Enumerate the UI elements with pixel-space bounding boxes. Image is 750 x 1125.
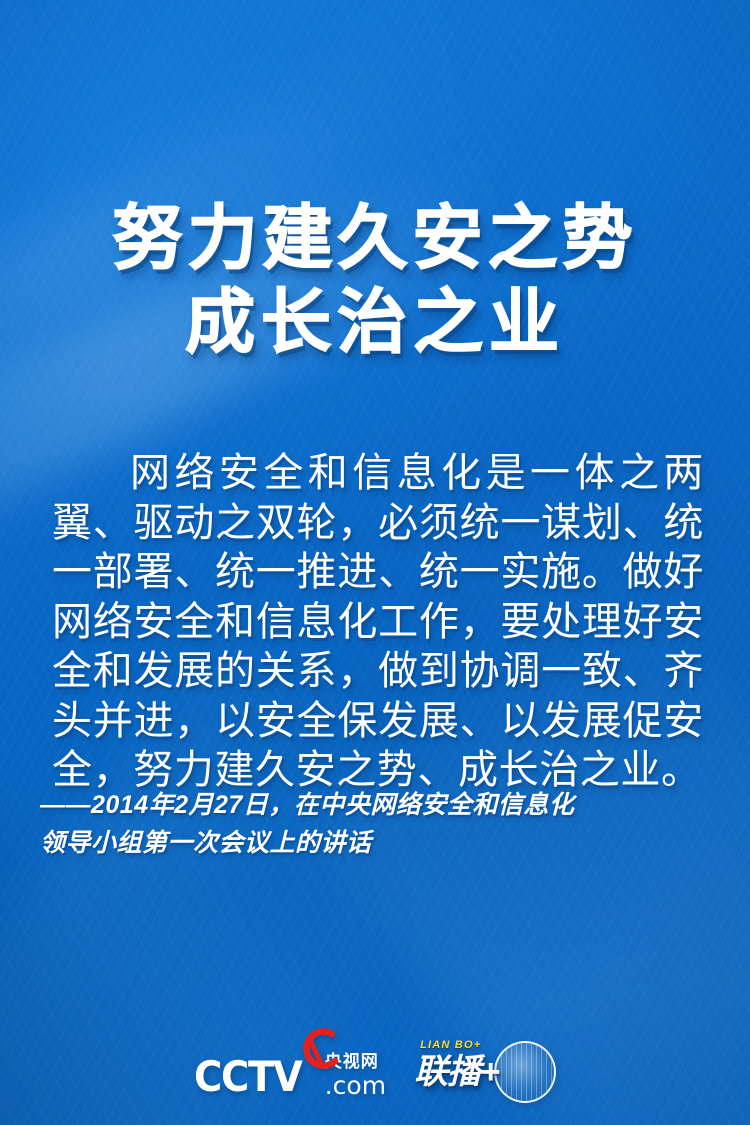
headline-line-1: 努力建久安之势 [0,196,750,280]
poster-content: 努力建久安之势 成长治之业 网络安全和信息化是一体之两翼、驱动之双轮，必须统一谋… [0,0,750,1125]
cctv-logo[interactable]: CCTV 央视网 .com [194,1042,386,1098]
lianbo-plus-sign: + [480,1053,499,1091]
lianbo-pinyin-text: LIAN BO+ [420,1039,481,1051]
cctv-swoosh-icon [302,1028,346,1072]
headline: 努力建久安之势 成长治之业 [0,196,750,364]
poster-canvas: 努力建久安之势 成长治之业 网络安全和信息化是一体之两翼、驱动之双轮，必须统一谋… [0,0,750,1125]
lianbo-cn-chars: 联播 [414,1053,480,1091]
quote-attribution: ——2014年2月27日，在中央网络安全和信息化 领导小组第一次会议上的讲话 [40,786,710,862]
headline-line-2: 成长治之业 [0,280,750,364]
attribution-line-2: 领导小组第一次会议上的讲话 [40,824,710,862]
lianbo-plus-logo[interactable]: LIAN BO+ 联播+ [414,1039,556,1101]
globe-circle-icon [494,1041,556,1103]
globe-meridian-lines [496,1043,554,1101]
cctv-domain: .com [325,1073,386,1098]
footer-logo-row: CCTV 央视网 .com LIAN BO+ 联播+ [0,1030,750,1110]
lianbo-chinese-name: 联播+ [414,1052,499,1092]
cctv-wordmark: CCTV [194,1056,301,1098]
quote-body-text: 网络安全和信息化是一体之两翼、驱动之双轮，必须统一谋划、统一部署、统一推进、统一… [52,448,704,795]
attribution-line-1: ——2014年2月27日，在中央网络安全和信息化 [40,786,710,824]
